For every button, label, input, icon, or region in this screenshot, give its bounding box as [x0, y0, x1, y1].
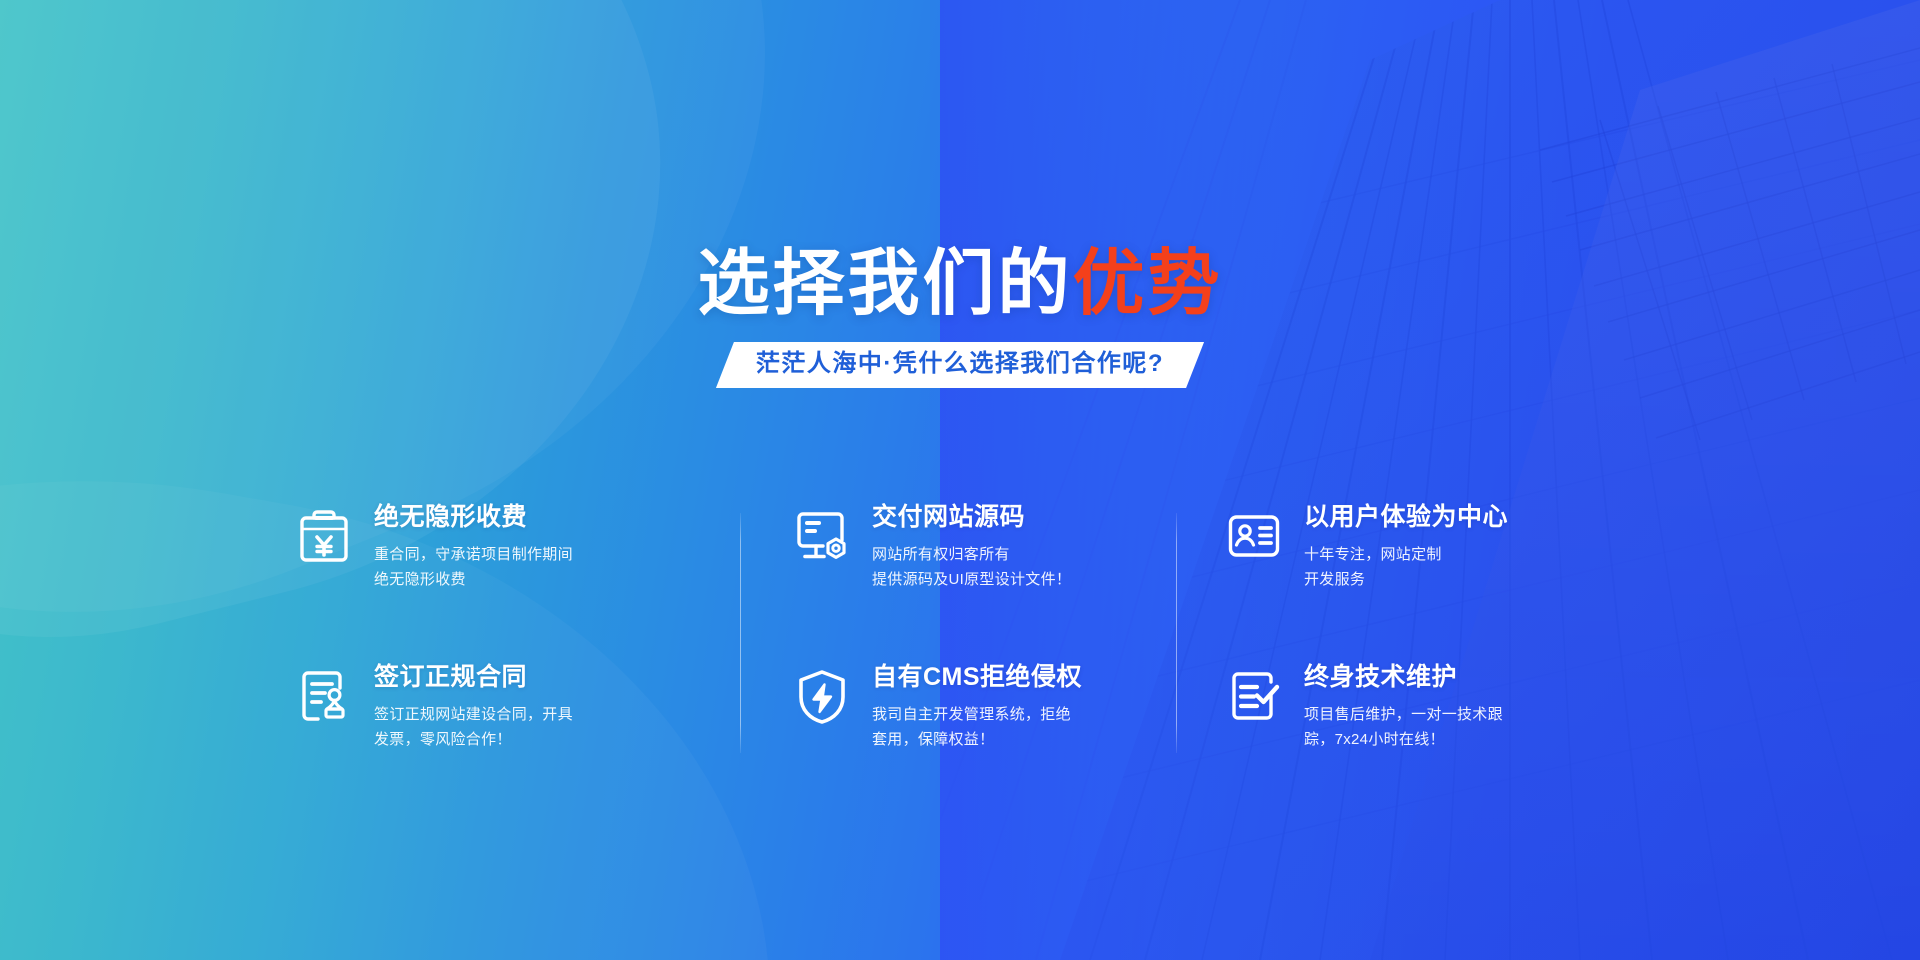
- feature-description: 网站所有权归客所有 提供源码及UI原型设计文件！: [872, 543, 1071, 593]
- feature-description: 签订正规网站建设合同，开具 发票，零风险合作！: [374, 703, 573, 753]
- feature-title: 交付网站源码: [872, 502, 1071, 532]
- feature-desc-line-1: 网站所有权归客所有: [872, 546, 1010, 563]
- feature-title: 自有CMS拒绝侵权: [872, 662, 1082, 692]
- header: 选择我们的优势 茫茫人海中·凭什么选择我们合作呢?: [0, 248, 1920, 388]
- feature-desc-line-1: 重合同，守承诺项目制作期间: [374, 546, 573, 563]
- feature-item-own-cms[interactable]: 自有CMS拒绝侵权 我司自主开发管理系统，拒绝 套用，保障权益！: [716, 660, 1146, 820]
- advantages-banner: 选择我们的优势 茫茫人海中·凭什么选择我们合作呢?: [0, 0, 1920, 960]
- page-title-main: 选择我们的: [697, 244, 1072, 324]
- feature-desc-line-2: 提供源码及UI原型设计文件！: [872, 568, 1071, 593]
- feature-desc-line-1: 十年专注，网站定制: [1304, 546, 1442, 563]
- feature-text: 交付网站源码 网站所有权归客所有 提供源码及UI原型设计文件！: [872, 500, 1071, 593]
- feature-desc-line-1: 项目售后维护，一对一技术跟: [1304, 706, 1503, 723]
- feature-item-lifetime-maintenance[interactable]: 终身技术维护 项目售后维护，一对一技术跟 踪，7x24小时在线！: [1146, 660, 1576, 820]
- shield-bolt-icon: [794, 666, 850, 726]
- feature-desc-line-1: 我司自主开发管理系统，拒绝: [872, 706, 1071, 723]
- feature-text: 签订正规合同 签订正规网站建设合同，开具 发票，零风险合作！: [374, 660, 573, 753]
- feature-desc-line-2: 套用，保障权益！: [872, 728, 1082, 753]
- feature-desc-line-2: 开发服务: [1304, 568, 1508, 593]
- checklist-check-icon: [1226, 666, 1282, 726]
- feature-item-source-code-delivery[interactable]: 交付网站源码 网站所有权归客所有 提供源码及UI原型设计文件！: [716, 500, 1146, 660]
- subtitle-bar: 茫茫人海中·凭什么选择我们合作呢?: [716, 342, 1204, 388]
- feature-title: 签订正规合同: [374, 662, 573, 692]
- feature-text: 绝无隐形收费 重合同，守承诺项目制作期间 绝无隐形收费: [374, 500, 573, 593]
- feature-item-user-experience-focus[interactable]: 以用户体验为中心 十年专注，网站定制 开发服务: [1146, 500, 1576, 660]
- feature-desc-line-1: 签订正规网站建设合同，开具: [374, 706, 573, 723]
- feature-title: 以用户体验为中心: [1304, 502, 1508, 532]
- feature-item-formal-contract[interactable]: 签订正规合同 签订正规网站建设合同，开具 发票，零风险合作！: [296, 660, 716, 820]
- feature-description: 重合同，守承诺项目制作期间 绝无隐形收费: [374, 543, 573, 593]
- contract-stamp-icon: [296, 666, 352, 726]
- feature-desc-line-2: 发票，零风险合作！: [374, 728, 573, 753]
- id-card-icon: [1226, 506, 1282, 566]
- feature-text: 以用户体验为中心 十年专注，网站定制 开发服务: [1304, 500, 1508, 593]
- feature-description: 我司自主开发管理系统，拒绝 套用，保障权益！: [872, 703, 1082, 753]
- clipboard-yen-icon: [296, 506, 352, 566]
- feature-title: 绝无隐形收费: [374, 502, 573, 532]
- feature-title: 终身技术维护: [1304, 662, 1503, 692]
- feature-grid: 绝无隐形收费 重合同，守承诺项目制作期间 绝无隐形收费: [296, 500, 1626, 820]
- feature-text: 终身技术维护 项目售后维护，一对一技术跟 踪，7x24小时在线！: [1304, 660, 1503, 753]
- subtitle-text: 茫茫人海中·凭什么选择我们合作呢?: [756, 349, 1164, 379]
- page-title-highlight: 优势: [1073, 244, 1223, 324]
- feature-item-no-hidden-fees[interactable]: 绝无隐形收费 重合同，守承诺项目制作期间 绝无隐形收费: [296, 500, 716, 660]
- feature-description: 项目售后维护，一对一技术跟 踪，7x24小时在线！: [1304, 703, 1503, 753]
- monitor-code-gear-icon: [794, 506, 850, 566]
- feature-desc-line-2: 绝无隐形收费: [374, 568, 573, 593]
- feature-description: 十年专注，网站定制 开发服务: [1304, 543, 1508, 593]
- subtitle-banner: 茫茫人海中·凭什么选择我们合作呢?: [716, 342, 1204, 388]
- feature-desc-line-2: 踪，7x24小时在线！: [1304, 728, 1503, 753]
- page-title: 选择我们的优势: [0, 248, 1920, 320]
- feature-text: 自有CMS拒绝侵权 我司自主开发管理系统，拒绝 套用，保障权益！: [872, 660, 1082, 753]
